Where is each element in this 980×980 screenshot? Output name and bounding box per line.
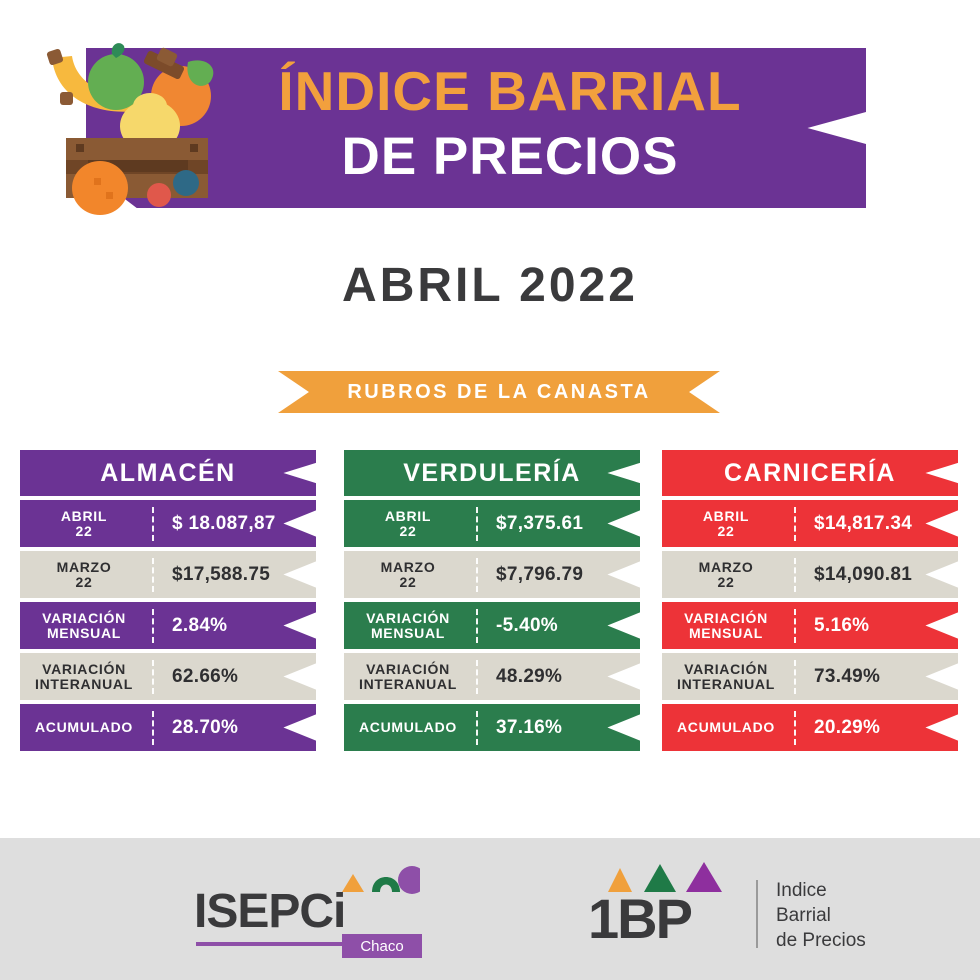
rubros-columns: ALMACÉN ABRIL 22 $ 18.087,87 MARZO 22 $1… xyxy=(0,450,980,770)
row-label: VARIACIÓN MENSUAL xyxy=(20,611,152,640)
row-label-line2: MENSUAL xyxy=(344,626,472,641)
header-title-line1: ÍNDICE BARRIAL xyxy=(210,64,810,119)
row-label-line1: ACUMULADO xyxy=(20,720,148,735)
row-divider xyxy=(794,609,796,643)
table-row: ACUMULADO 37.16% xyxy=(344,704,640,751)
row-value: 20.29% xyxy=(796,717,958,739)
ibp-logo: 1BP Indice Barrial de Precios xyxy=(578,856,878,966)
row-value: 37.16% xyxy=(478,717,640,739)
row-label-line2: INTERANUAL xyxy=(662,677,790,692)
purple-circle-mark xyxy=(398,866,420,894)
row-label: ACUMULADO xyxy=(344,720,476,735)
row-label: VARIACIÓN INTERANUAL xyxy=(662,662,794,691)
row-divider xyxy=(152,558,154,592)
row-label-line2: 22 xyxy=(20,575,148,590)
section-ribbon-label: RUBROS DE LA CANASTA xyxy=(278,371,720,413)
row-value: 28.70% xyxy=(154,717,316,739)
column-header-verduleria: VERDULERÍA xyxy=(344,450,640,496)
fruit-cart-illustration xyxy=(38,40,223,215)
row-divider xyxy=(152,711,154,745)
row-label-line1: MARZO xyxy=(344,560,472,575)
row-label-line1: VARIACIÓN xyxy=(344,662,472,677)
table-row: VARIACIÓN MENSUAL 2.84% xyxy=(20,602,316,649)
ibp-subtitle-line3: de Precios xyxy=(776,928,866,953)
row-label: ABRIL 22 xyxy=(662,509,794,538)
row-divider xyxy=(794,558,796,592)
row-label: VARIACIÓN MENSUAL xyxy=(344,611,476,640)
row-label: MARZO 22 xyxy=(20,560,152,589)
header-title-line2: DE PRECIOS xyxy=(210,130,810,183)
row-label-line1: VARIACIÓN xyxy=(20,611,148,626)
row-label-line1: MARZO xyxy=(20,560,148,575)
ibp-wordmark: 1BP xyxy=(588,886,691,951)
row-label-line1: MARZO xyxy=(662,560,790,575)
table-row: VARIACIÓN MENSUAL 5.16% xyxy=(662,602,958,649)
green-arch-mark xyxy=(372,877,400,892)
column-almacen: ALMACÉN ABRIL 22 $ 18.087,87 MARZO 22 $1… xyxy=(20,450,316,755)
column-header-carniceria: CARNICERÍA xyxy=(662,450,958,496)
row-value: 5.16% xyxy=(796,615,958,637)
isepci-chaco-badge: Chaco xyxy=(342,934,422,958)
row-label-line1: ACUMULADO xyxy=(344,720,472,735)
row-label-line1: VARIACIÓN xyxy=(20,662,148,677)
column-verduleria: VERDULERÍA ABRIL 22 $7,375.61 MARZO 22 $… xyxy=(344,450,640,755)
table-row: MARZO 22 $17,588.75 xyxy=(20,551,316,598)
row-divider xyxy=(476,660,478,694)
isepci-underline xyxy=(196,942,346,946)
ibp-subtitle-line2: Barrial xyxy=(776,903,866,928)
row-label: VARIACIÓN INTERANUAL xyxy=(344,662,476,691)
row-label-line2: 22 xyxy=(20,524,148,539)
table-row: VARIACIÓN MENSUAL -5.40% xyxy=(344,602,640,649)
row-label: VARIACIÓN MENSUAL xyxy=(662,611,794,640)
row-divider xyxy=(794,507,796,541)
row-divider xyxy=(794,660,796,694)
table-row: VARIACIÓN INTERANUAL 73.49% xyxy=(662,653,958,700)
row-value: 48.29% xyxy=(478,666,640,688)
row-label-line2: 22 xyxy=(344,575,472,590)
row-label-line1: ABRIL xyxy=(662,509,790,524)
table-row: ABRIL 22 $14,817.34 xyxy=(662,500,958,547)
row-label: MARZO 22 xyxy=(344,560,476,589)
table-row: ACUMULADO 20.29% xyxy=(662,704,958,751)
row-label-line2: MENSUAL xyxy=(20,626,148,641)
ibp-subtitle: Indice Barrial de Precios xyxy=(776,878,866,953)
row-divider xyxy=(476,507,478,541)
row-label-line2: 22 xyxy=(662,575,790,590)
purple-triangle-icon xyxy=(686,862,722,892)
row-value: $17,588.75 xyxy=(154,564,316,586)
table-row: VARIACIÓN INTERANUAL 48.29% xyxy=(344,653,640,700)
row-label: ACUMULADO xyxy=(20,720,152,735)
row-value: $14,817.34 xyxy=(796,513,958,535)
column-header-almacen: ALMACÉN xyxy=(20,450,316,496)
row-label: MARZO 22 xyxy=(662,560,794,589)
row-divider xyxy=(152,609,154,643)
infographic-page: ÍNDICE BARRIAL DE PRECIOS ABRIL 2022 RUB… xyxy=(0,0,980,980)
column-carniceria: CARNICERÍA ABRIL 22 $14,817.34 MARZO 22 … xyxy=(662,450,958,755)
row-value: 73.49% xyxy=(796,666,958,688)
row-divider xyxy=(794,711,796,745)
row-value: -5.40% xyxy=(478,615,640,637)
row-value: 62.66% xyxy=(154,666,316,688)
row-label-line1: VARIACIÓN xyxy=(662,662,790,677)
row-label: ACUMULADO xyxy=(662,720,794,735)
header-banner: ÍNDICE BARRIAL DE PRECIOS xyxy=(0,0,980,230)
row-label: VARIACIÓN INTERANUAL xyxy=(20,662,152,691)
table-row: MARZO 22 $7,796.79 xyxy=(344,551,640,598)
table-row: ABRIL 22 $7,375.61 xyxy=(344,500,640,547)
row-divider xyxy=(476,609,478,643)
row-label: ABRIL 22 xyxy=(20,509,152,538)
ibp-divider xyxy=(756,880,758,948)
row-divider xyxy=(152,660,154,694)
isepci-logo: ISEPCi Chaco xyxy=(190,858,420,966)
row-label-line1: VARIACIÓN xyxy=(662,611,790,626)
row-value: $7,796.79 xyxy=(478,564,640,586)
footer-bar: ISEPCi Chaco 1BP Indice Barrial de Preci… xyxy=(0,838,980,980)
row-label-line1: ACUMULADO xyxy=(662,720,790,735)
table-row: ACUMULADO 28.70% xyxy=(20,704,316,751)
row-label-line2: 22 xyxy=(344,524,472,539)
row-divider xyxy=(476,558,478,592)
isepci-wordmark: ISEPCi xyxy=(194,884,345,939)
row-label-line2: INTERANUAL xyxy=(344,677,472,692)
row-divider xyxy=(152,507,154,541)
row-label-line1: VARIACIÓN xyxy=(344,611,472,626)
row-divider xyxy=(476,711,478,745)
row-label-line2: INTERANUAL xyxy=(20,677,148,692)
row-value: $ 18.087,87 xyxy=(154,513,316,535)
row-label-line1: ABRIL xyxy=(20,509,148,524)
row-value: $14,090.81 xyxy=(796,564,958,586)
row-label-line2: 22 xyxy=(662,524,790,539)
row-value: $7,375.61 xyxy=(478,513,640,535)
row-label: ABRIL 22 xyxy=(344,509,476,538)
table-row: ABRIL 22 $ 18.087,87 xyxy=(20,500,316,547)
table-row: VARIACIÓN INTERANUAL 62.66% xyxy=(20,653,316,700)
ibp-subtitle-line1: Indice xyxy=(776,878,866,903)
row-label-line1: ABRIL xyxy=(344,509,472,524)
month-title: ABRIL 2022 xyxy=(0,258,980,313)
row-value: 2.84% xyxy=(154,615,316,637)
table-row: MARZO 22 $14,090.81 xyxy=(662,551,958,598)
row-label-line2: MENSUAL xyxy=(662,626,790,641)
